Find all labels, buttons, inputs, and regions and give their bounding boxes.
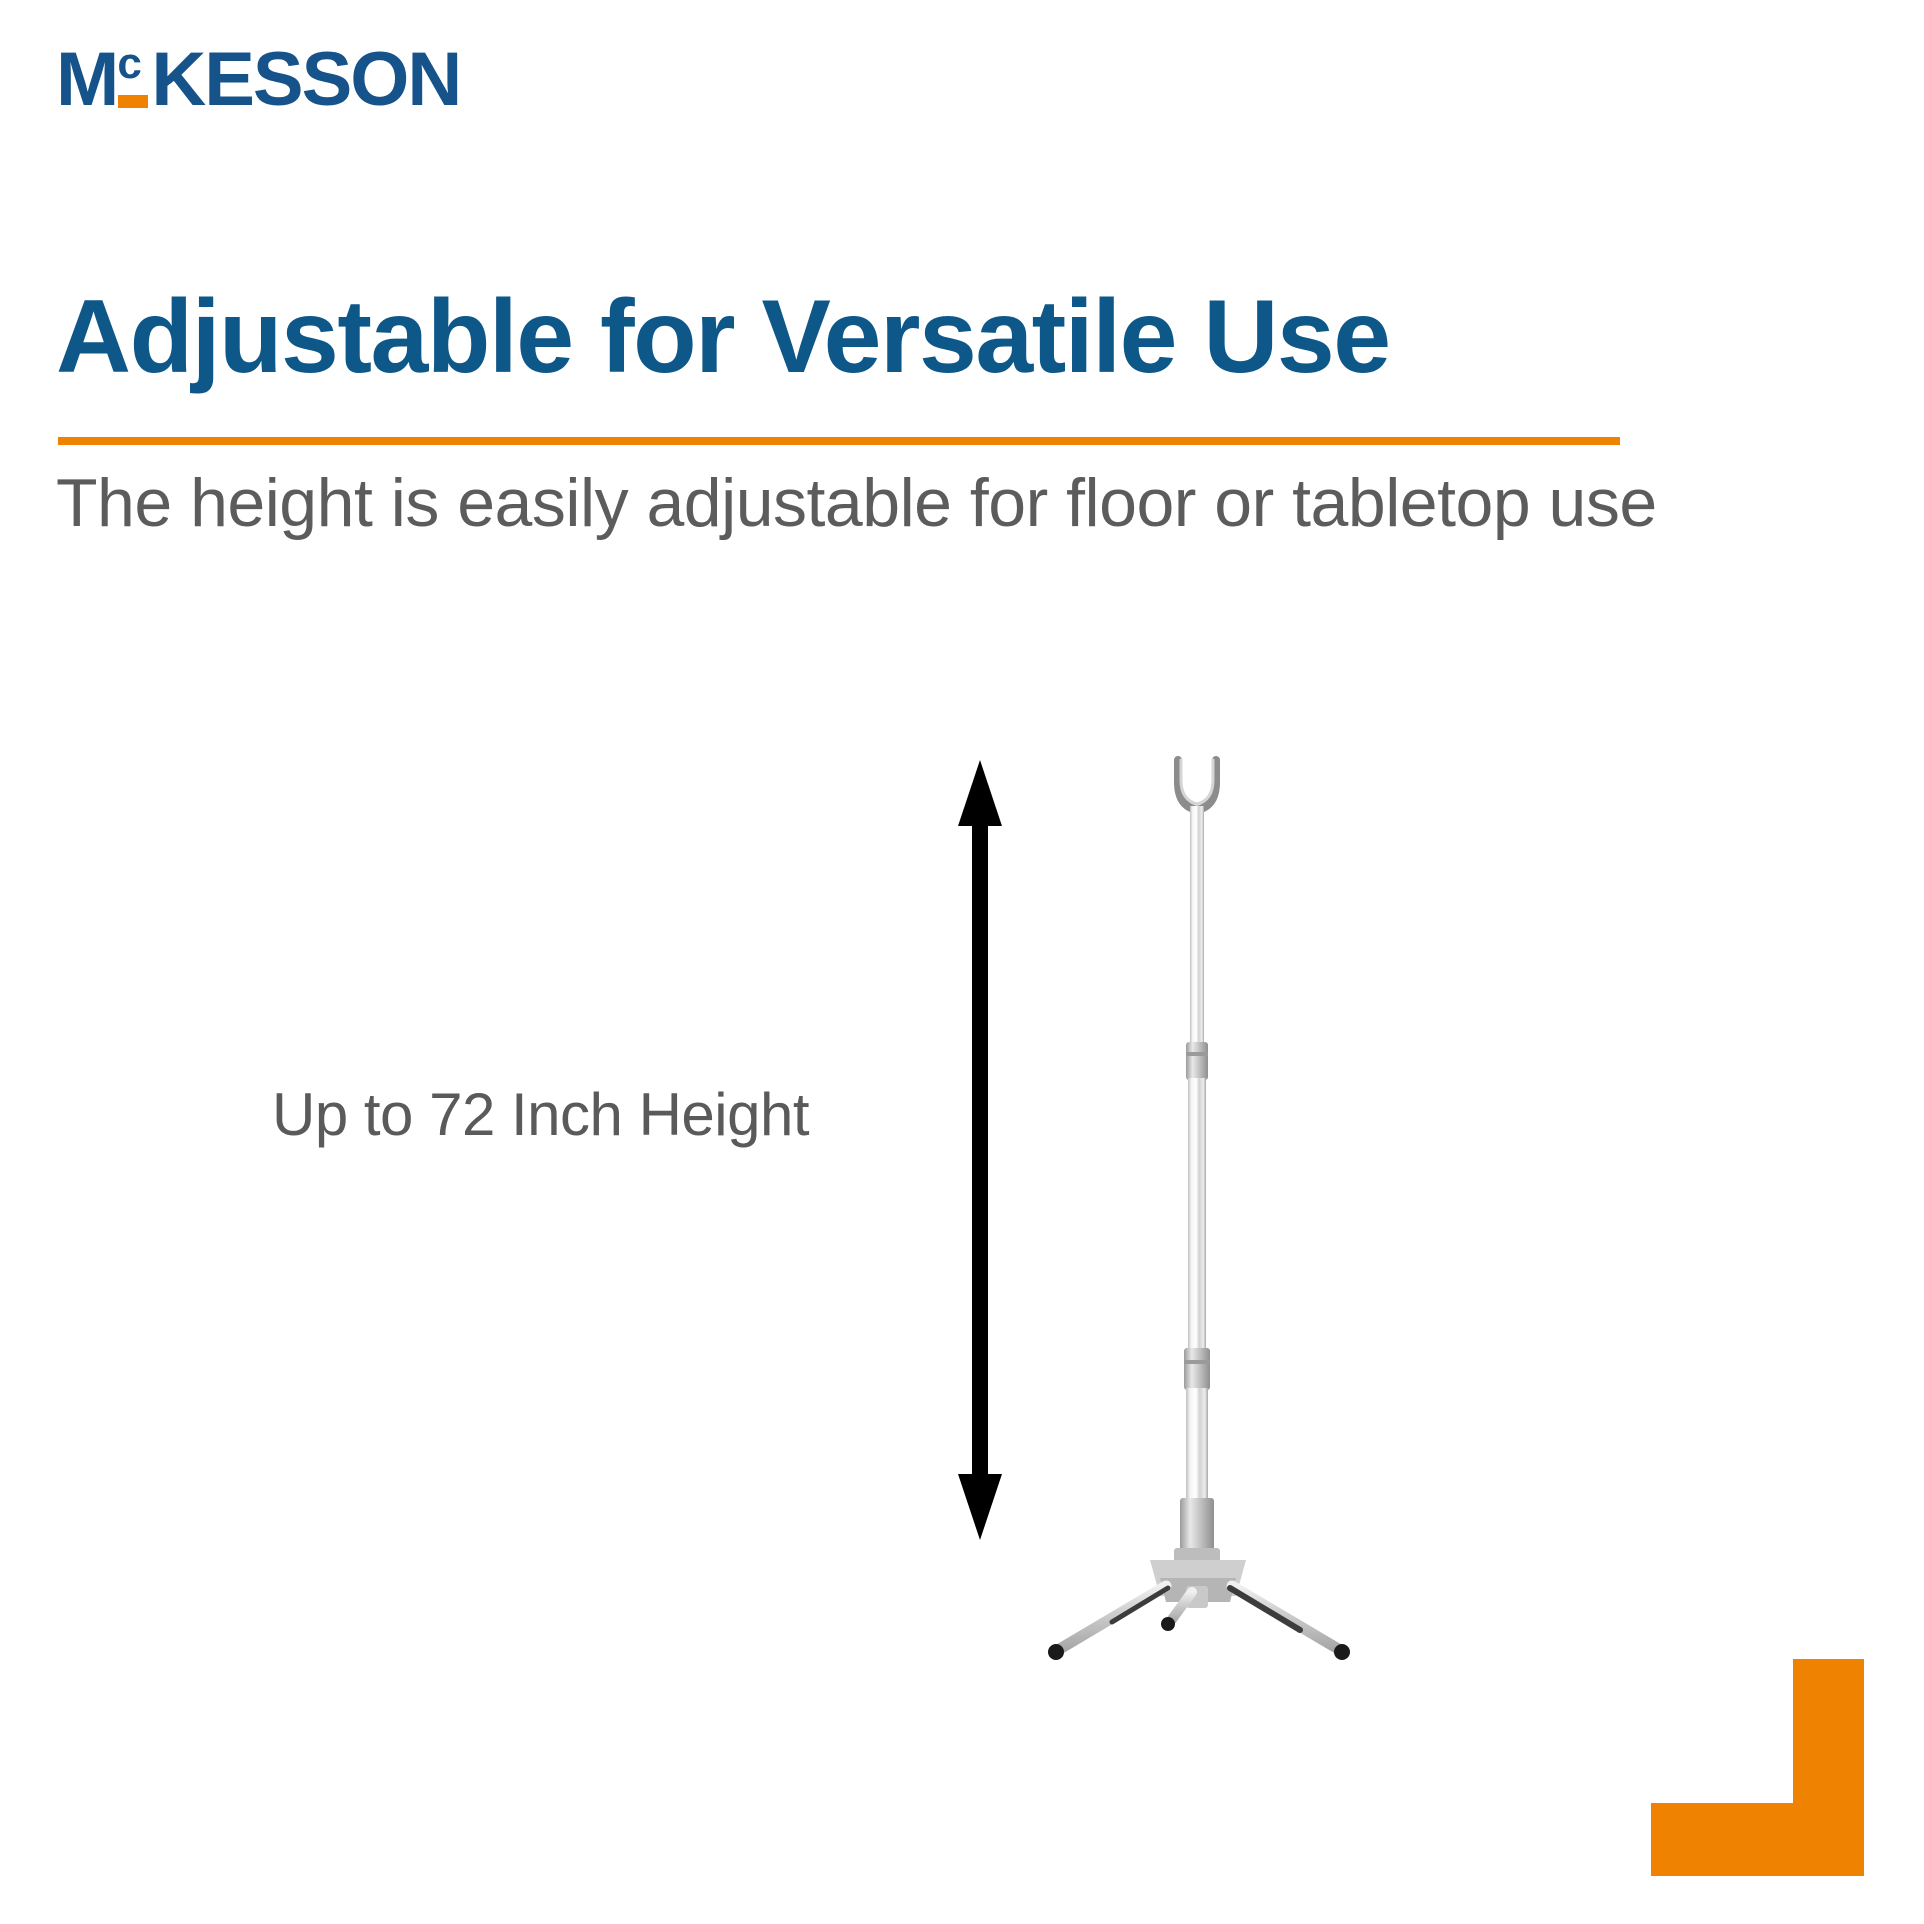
arrow-up-icon — [958, 760, 1002, 826]
pole-collar-lower — [1184, 1348, 1210, 1390]
tripod-foot-center — [1161, 1617, 1175, 1631]
logo-superscript-group: c — [117, 40, 151, 114]
pole-section-lower — [1186, 1388, 1208, 1506]
tripod-leg-left — [1058, 1586, 1166, 1650]
iv-pole-product-image — [1000, 730, 1400, 1660]
pole-collar-upper — [1186, 1042, 1208, 1080]
arrow-shaft — [972, 802, 988, 1498]
corner-accent-horizontal-bar — [1651, 1803, 1864, 1876]
arrow-down-icon — [958, 1474, 1002, 1540]
pole-section-upper — [1190, 806, 1204, 1050]
height-measurement-label: Up to 72 Inch Height — [272, 1082, 972, 1148]
iv-hook-icon — [1178, 760, 1216, 810]
page-title: Adjustable for Versatile Use — [56, 282, 1656, 392]
tripod-foot-left — [1048, 1644, 1064, 1660]
tripod-leg-right-brace — [1230, 1588, 1300, 1630]
pole-base-sleeve — [1180, 1498, 1214, 1556]
pole-section-middle — [1188, 1078, 1206, 1356]
logo-orange-underscore — [118, 95, 148, 108]
title-divider-rule — [58, 437, 1620, 445]
logo-superscript-c: c — [117, 42, 140, 86]
mckesson-logo: M c KESSON — [56, 40, 460, 114]
page-subtitle: The height is easily adjustable for floo… — [56, 466, 1776, 541]
tripod-leg-left-brace — [1112, 1588, 1168, 1622]
logo-wordmark-m: M — [56, 46, 117, 114]
pole-collar-upper-groove — [1186, 1052, 1208, 1056]
tripod-foot-right — [1334, 1644, 1350, 1660]
logo-wordmark-kesson: KESSON — [151, 46, 460, 114]
product-illustration-stage — [880, 720, 1440, 1660]
pole-collar-lower-groove — [1184, 1360, 1210, 1364]
corner-accent-shape — [1651, 1659, 1864, 1876]
marketing-infographic-canvas: M c KESSON Adjustable for Versatile Use … — [0, 0, 1924, 1924]
